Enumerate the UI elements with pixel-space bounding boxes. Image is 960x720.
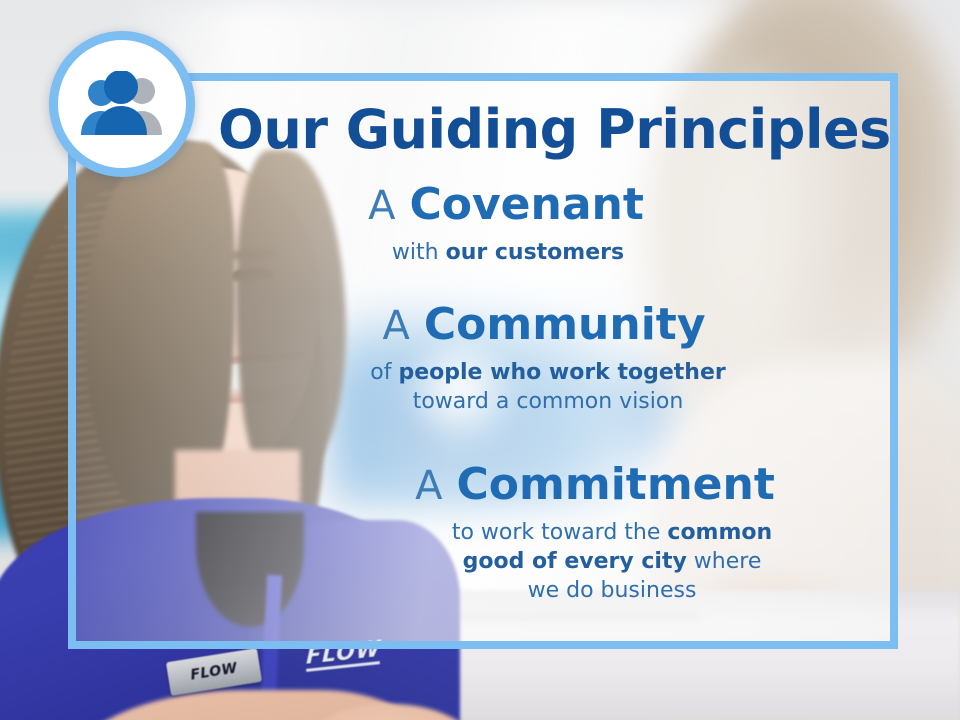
principle-keyword: Covenant bbox=[409, 179, 643, 230]
principle-keyword: Commitment bbox=[456, 459, 774, 510]
name-badge-label: FLOW bbox=[189, 660, 238, 683]
guiding-principles-graphic: FLOW FLOW Our Guiding Princi bbox=[0, 0, 960, 720]
text-content: Our Guiding Principles A Covenant with o… bbox=[68, 73, 898, 649]
principle-heading: A Community bbox=[146, 301, 846, 349]
principle-article: A bbox=[368, 183, 395, 229]
principle-subtext: to work toward the common good of every … bbox=[146, 518, 846, 605]
page-title: Our Guiding Principles bbox=[218, 98, 878, 161]
principle-subtext-line: with our customers bbox=[170, 238, 846, 267]
principle-subtext-line: to work toward the common bbox=[378, 518, 846, 547]
principle-subtext: of people who work together toward a com… bbox=[146, 358, 846, 416]
principle-covenant: A Covenant with our customers bbox=[146, 181, 846, 267]
principle-subtext-line: of people who work together bbox=[250, 358, 846, 387]
principle-article: A bbox=[415, 463, 442, 509]
principle-subtext: with our customers bbox=[146, 238, 846, 267]
principle-community: A Community of people who work together … bbox=[146, 301, 846, 416]
principle-article: A bbox=[382, 303, 409, 349]
principle-subtext-line: toward a common vision bbox=[250, 387, 846, 416]
principle-keyword: Community bbox=[424, 299, 706, 350]
principle-subtext-line: good of every city where bbox=[378, 547, 846, 576]
principle-subtext-line: we do business bbox=[378, 576, 846, 605]
principle-heading: A Covenant bbox=[146, 181, 846, 229]
principle-commitment: A Commitment to work toward the common g… bbox=[146, 461, 846, 605]
principle-heading: A Commitment bbox=[146, 461, 846, 509]
